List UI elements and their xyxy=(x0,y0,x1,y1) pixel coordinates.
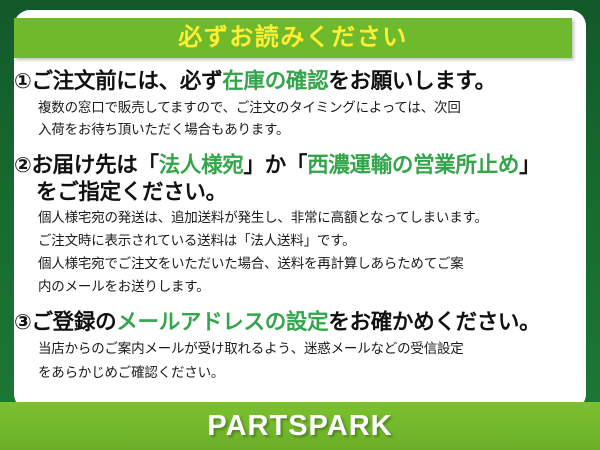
item-detail-line: をあらかじめご確認ください。 xyxy=(14,363,586,383)
item-headline-highlight: 法人様宛 xyxy=(159,153,244,177)
item-detail-line: 入荷をお待ち頂いただく場合もあります。 xyxy=(14,120,586,140)
list-item: ②お届け先は「法人様宛」か「西濃運輸の営業所止め」 をご指定ください。 個人様宅… xyxy=(14,152,586,296)
item-detail-line: 複数の窓口で販売してますので、ご注文のタイミングによっては、次回 xyxy=(14,98,586,118)
item-headline: ③ご登録のメールアドレスの設定をお確かめください。 xyxy=(14,309,586,336)
item-headline-highlight: 在庫の確認 xyxy=(222,69,328,93)
page-title: 必ずお読みください xyxy=(178,26,408,50)
item-headline: ②お届け先は「法人様宛」か「西濃運輸の営業所止め」 xyxy=(14,152,586,179)
notice-banner: 必ずお読みください ①ご注文前には、必ず在庫の確認をお願いします。 複数の窓口で… xyxy=(0,0,600,450)
item-headline-part: をお確かめください。 xyxy=(328,310,540,334)
item-number: ③ xyxy=(14,311,31,334)
item-headline-part: 」か「 xyxy=(244,153,308,177)
item-detail-line: 個人様宅宛の発送は、追加送料が発生し、非常に高額となってしまいます。 xyxy=(14,208,586,228)
item-headline: ①ご注文前には、必ず在庫の確認をお願いします。 xyxy=(14,68,586,95)
item-headline-part: ご注文前には、必ず xyxy=(31,69,222,93)
notice-list: ①ご注文前には、必ず在庫の確認をお願いします。 複数の窓口で販売してますので、ご… xyxy=(14,66,586,385)
item-headline-highlight: 西濃運輸の営業所止め xyxy=(307,153,519,177)
item-number: ① xyxy=(14,70,31,93)
item-headline-part: お届け先は「 xyxy=(31,153,158,177)
item-headline-continued: をご指定ください。 xyxy=(14,179,586,205)
item-detail-line: ご注文時に表示されている送料は「法人送料」です。 xyxy=(14,231,586,251)
header-band: 必ずお読みください xyxy=(14,18,572,58)
list-item: ③ご登録のメールアドレスの設定をお確かめください。 当店からのご案内メールが受け… xyxy=(14,309,586,383)
item-detail-line: 当店からのご案内メールが受け取れるよう、迷惑メールなどの受信設定 xyxy=(14,339,586,359)
brand-logo: PARTSPARK xyxy=(207,412,392,441)
item-headline-part: をお願いします。 xyxy=(328,69,495,93)
list-item: ①ご注文前には、必ず在庫の確認をお願いします。 複数の窓口で販売してますので、ご… xyxy=(14,68,586,140)
item-number: ② xyxy=(14,154,31,177)
item-headline-highlight: メールアドレスの設定 xyxy=(116,310,328,334)
item-headline-part: 」 xyxy=(519,153,540,177)
item-headline-part: ご登録の xyxy=(31,310,116,334)
item-detail-line: 内のメールをお送りします。 xyxy=(14,277,586,297)
footer-bar: PARTSPARK xyxy=(0,402,600,450)
item-detail-line: 個人様宅宛でご注文をいただいた場合、送料を再計算しあらためてご案 xyxy=(14,254,586,274)
